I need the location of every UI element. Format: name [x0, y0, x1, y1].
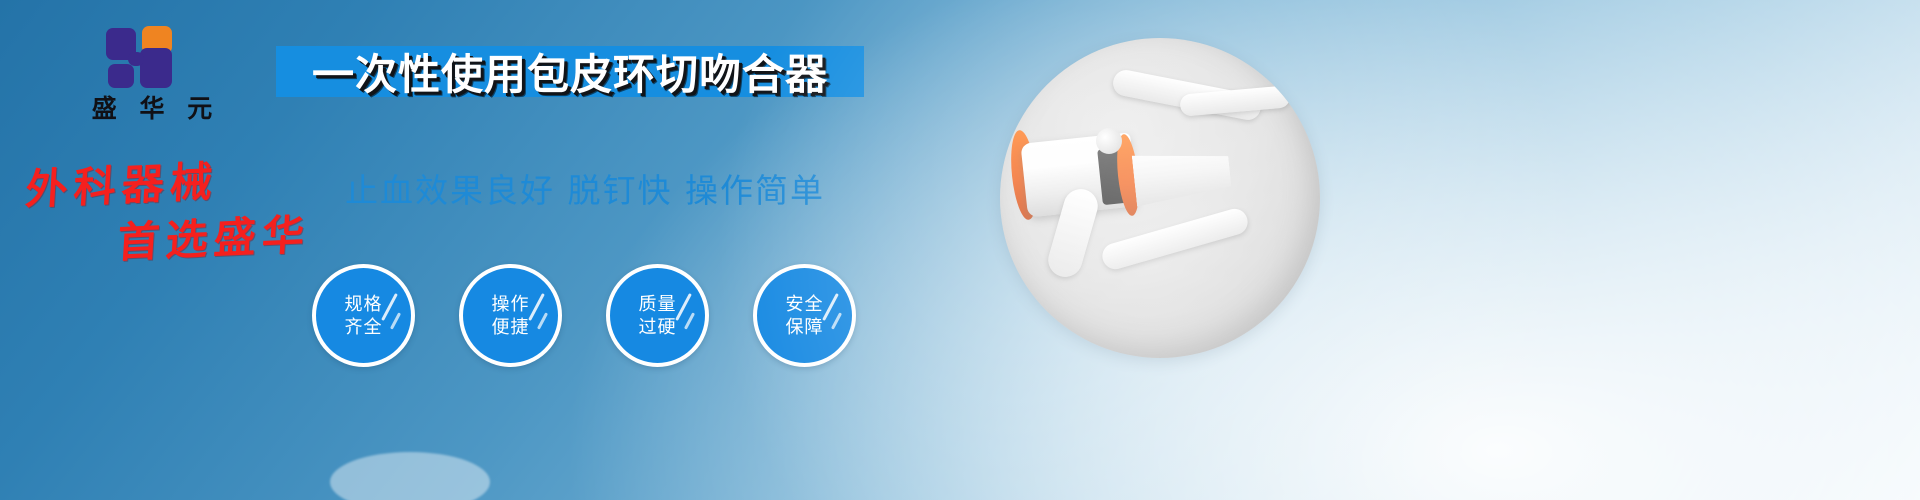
badge-label-top: 操作	[492, 293, 530, 316]
page-title: 一次性使用包皮环切吻合器	[276, 40, 864, 102]
brand-logo[interactable]: 盛 华 元	[62, 26, 242, 126]
decorative-glow	[330, 452, 490, 500]
badge-label-bottom: 过硬	[639, 316, 677, 339]
stapler-hinge	[1096, 128, 1122, 154]
stapler-arm-lower	[1099, 206, 1250, 272]
logo-mark-icon	[106, 26, 186, 88]
badge-label-top: 安全	[786, 293, 824, 316]
feature-badge-specs[interactable]: 规格 齐全	[312, 264, 415, 367]
feature-badge-quality[interactable]: 质量 过硬	[606, 264, 709, 367]
stapler-anvil-cone	[1131, 141, 1233, 209]
product-photo	[1000, 38, 1320, 358]
subtitle-features: 止血效果良好 脱钉快 操作简单	[345, 164, 825, 212]
feature-badge-safety[interactable]: 安全 保障	[753, 264, 856, 367]
badge-label-top: 质量	[639, 293, 677, 316]
logo-wordmark: 盛 华 元	[62, 94, 242, 124]
slash-decor-small-icon	[390, 312, 401, 329]
slash-decor-small-icon	[684, 312, 695, 329]
badge-label-top: 规格	[345, 293, 383, 316]
badge-label-bottom: 齐全	[345, 316, 383, 339]
feature-badge-operation[interactable]: 操作 便捷	[459, 264, 562, 367]
promo-banner: 盛 华 元 一次性使用包皮环切吻合器 外科器械 首选盛华 止血效果良好 脱钉快 …	[0, 0, 1920, 500]
slash-decor-small-icon	[831, 312, 842, 329]
slash-decor-small-icon	[537, 312, 548, 329]
badge-label-bottom: 保障	[786, 316, 824, 339]
slogan-line-2: 首选盛华	[116, 201, 312, 270]
badge-label-bottom: 便捷	[492, 316, 530, 339]
feature-badge-list: 规格 齐全 操作 便捷 质量 过硬 安全 保障	[312, 264, 856, 367]
